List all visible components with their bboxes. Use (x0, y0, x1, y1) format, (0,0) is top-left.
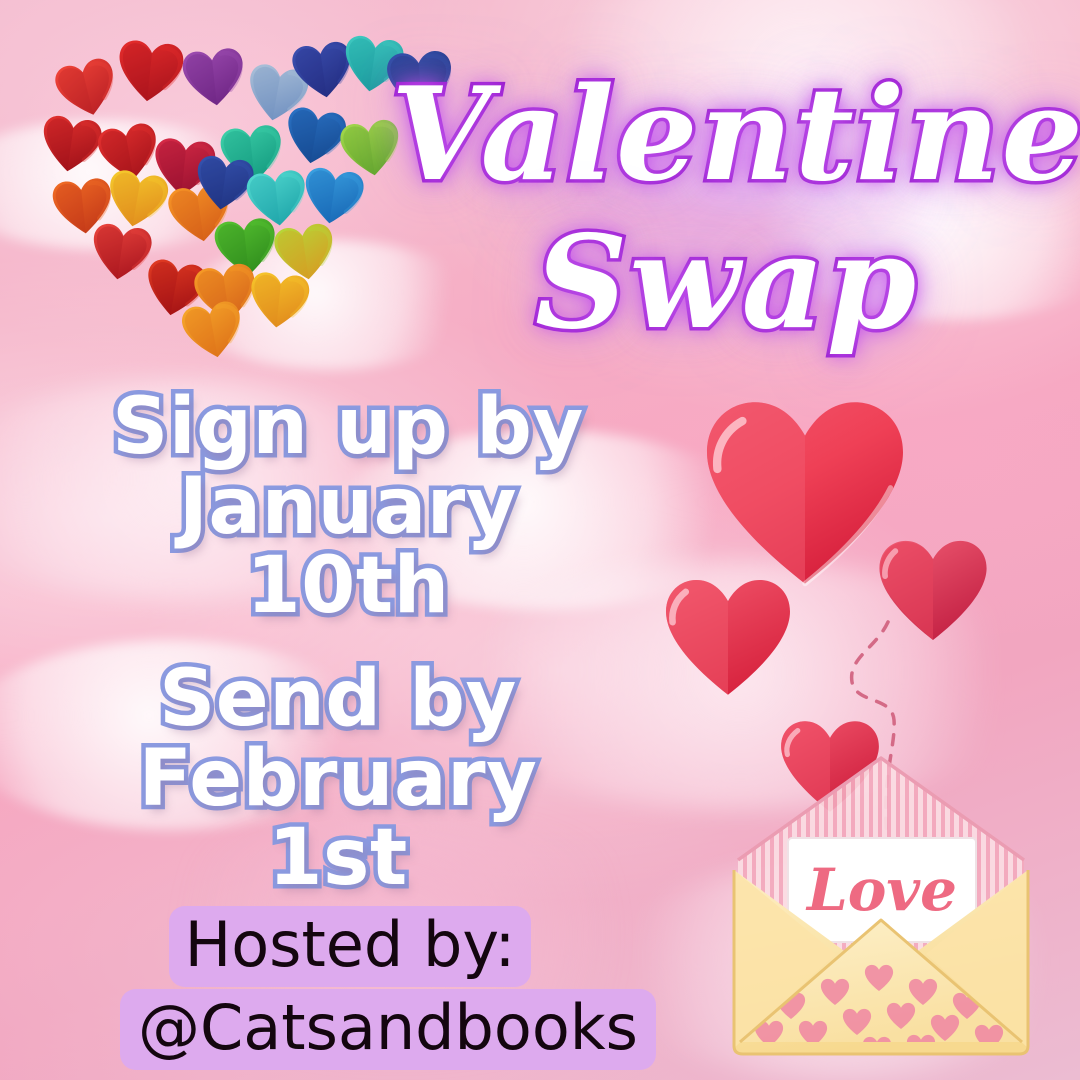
floating-heart-small-icon (662, 576, 794, 700)
signup-line-1: Sign up by (88, 388, 608, 468)
love-letter-envelope: Love (716, 742, 1046, 1072)
envelope-card-text: Love (805, 856, 957, 924)
watercolor-heart (245, 269, 313, 333)
watercolor-heart (298, 164, 367, 230)
title-line-valentine: Valentine (391, 60, 1080, 210)
signup-deadline-block: Sign up by January 10th (88, 388, 608, 627)
poster-title: Valentine Swap (385, 26, 1050, 366)
watercolor-heart (177, 297, 248, 365)
send-line-1: Send by (78, 660, 598, 740)
watercolor-heart (113, 37, 187, 108)
title-line-swap: Swap (535, 208, 918, 358)
hosted-by-label-row: Hosted by: (120, 906, 580, 987)
rainbow-heart-cluster (34, 28, 364, 318)
valentine-swap-poster: Valentine Swap Sign up by January 10th S… (0, 0, 1080, 1080)
send-deadline-block: Send by February 1st (78, 660, 598, 899)
watercolor-heart (179, 45, 249, 111)
hosted-by-block: Hosted by: @Catsandbooks (120, 906, 580, 1070)
signup-line-2: January 10th (88, 468, 608, 627)
host-handle-row[interactable]: @Catsandbooks (120, 989, 580, 1070)
hosted-by-label: Hosted by: (169, 906, 532, 987)
host-handle[interactable]: @Catsandbooks (120, 989, 656, 1070)
send-line-2: February 1st (78, 740, 598, 899)
